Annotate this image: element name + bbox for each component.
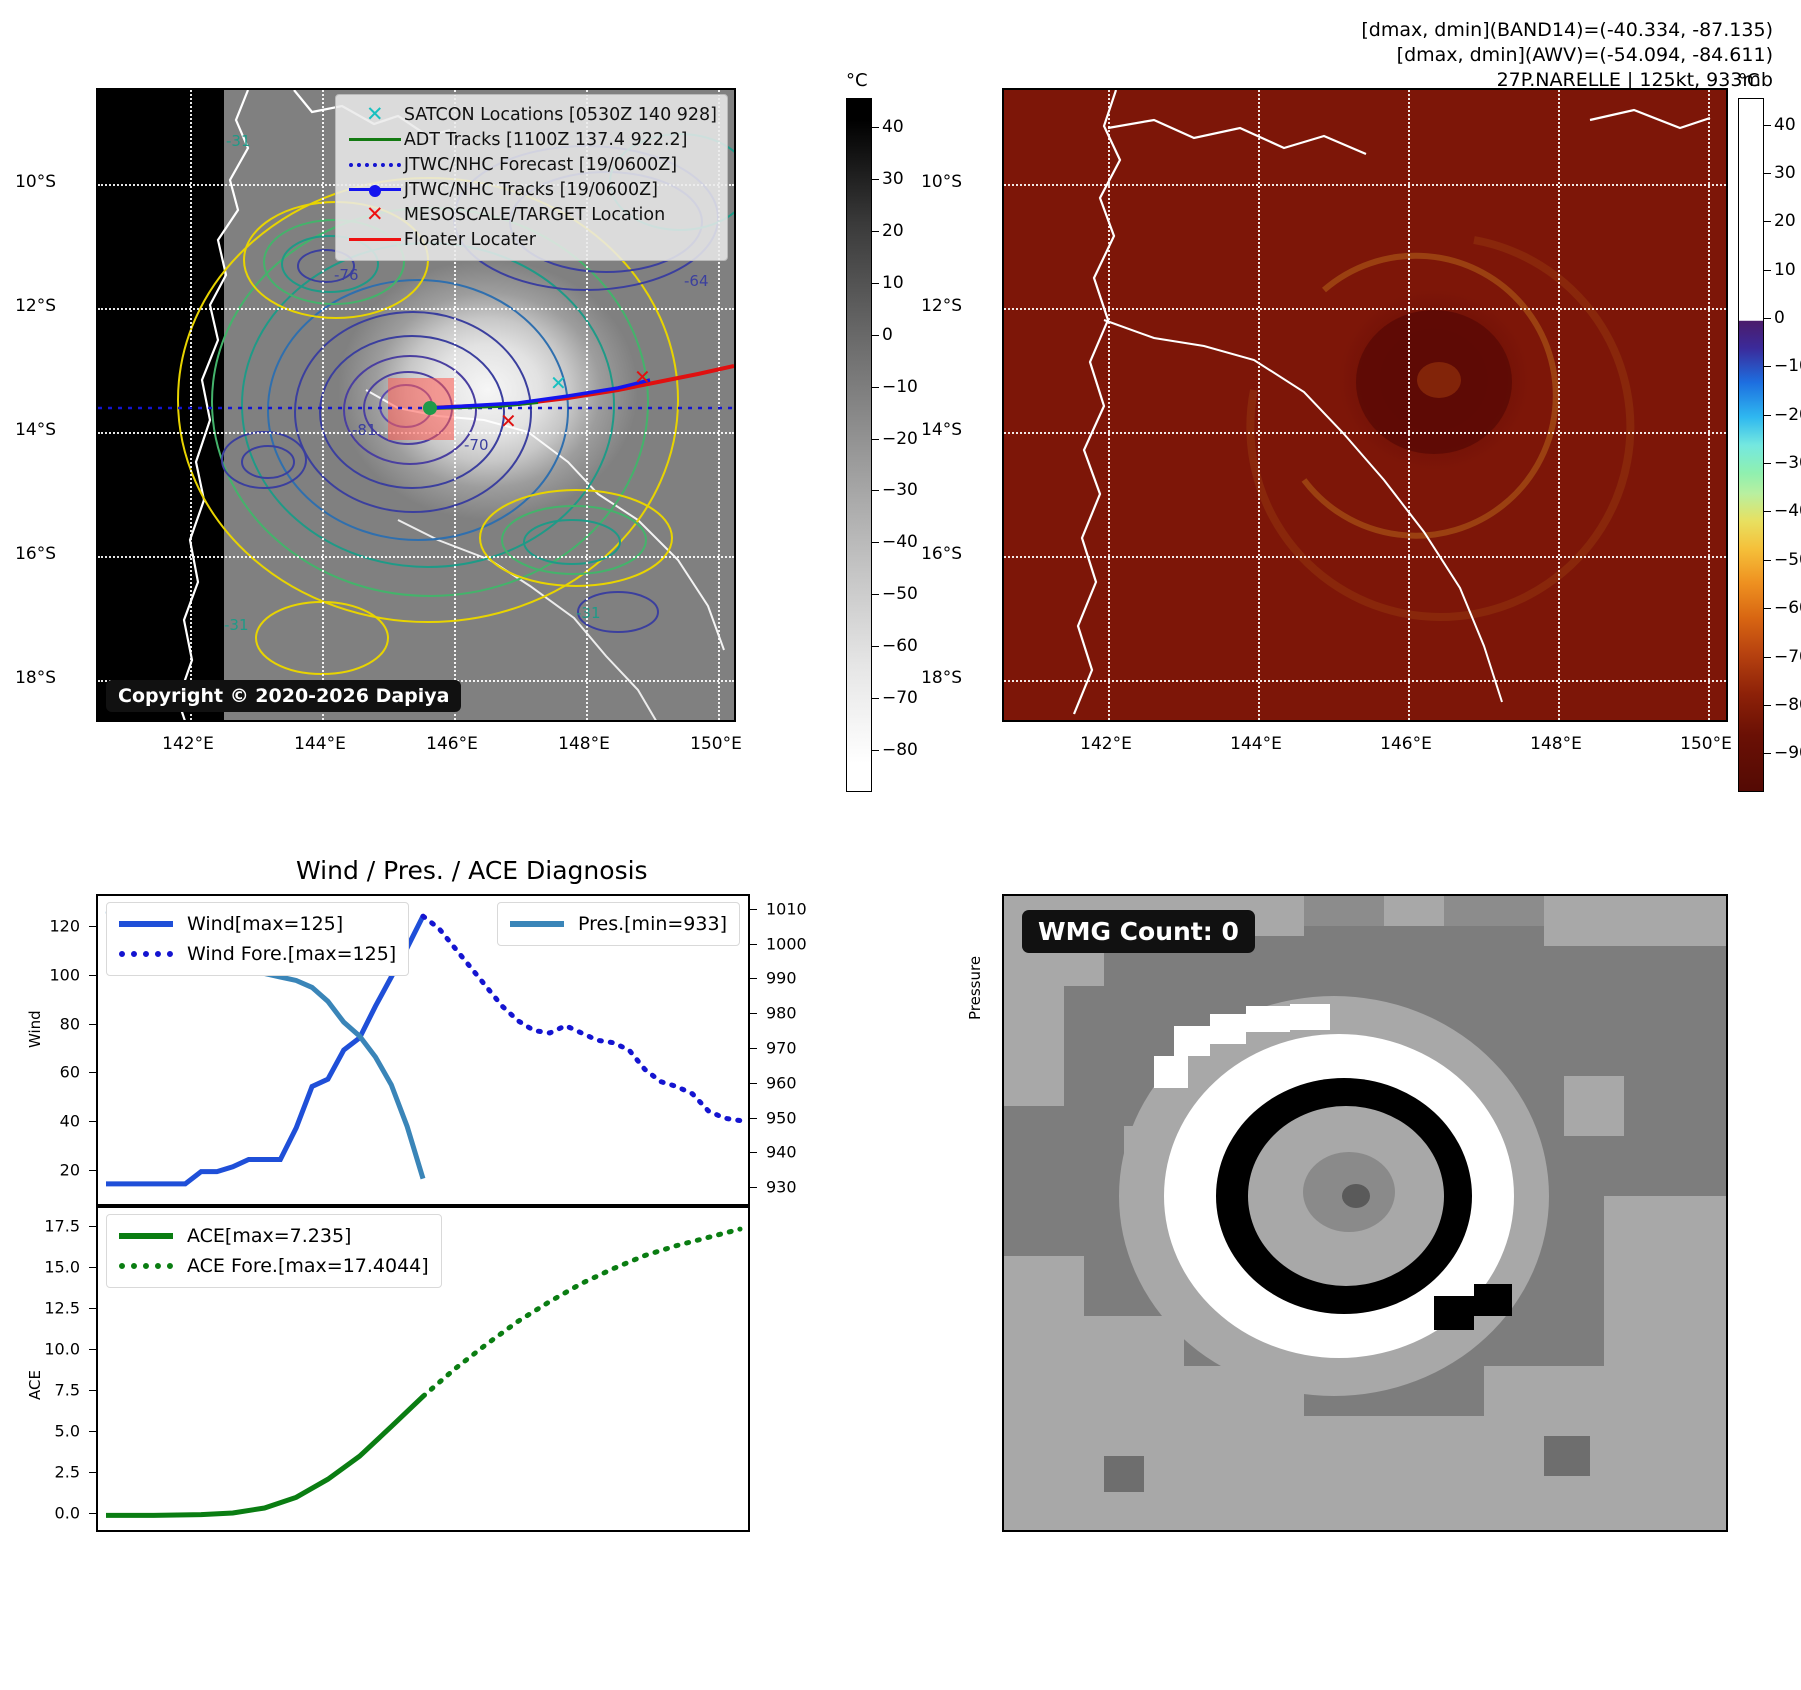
ace-legend[interactable]: ACE[max=7.235] ACE Fore.[max=17.4044]: [106, 1214, 442, 1288]
axis-tick-label: 940: [766, 1143, 836, 1162]
ir-lon-label-150e: 150°E: [690, 734, 742, 754]
awv-satellite-map[interactable]: [1002, 88, 1728, 722]
awv-gridline-lat-12s: [1004, 308, 1726, 310]
colorbar-tick-label: 40: [1774, 115, 1796, 135]
ir-colorbar-gradient: [846, 98, 872, 792]
colorbar-tick-mark: [1764, 415, 1771, 416]
axis-tick-label: 970: [766, 1039, 836, 1058]
colorbar-tick-mark: [872, 387, 879, 388]
axis-tick-mark: [89, 1349, 96, 1350]
colorbar-tick-label: −90: [1774, 743, 1801, 763]
axis-tick-mark: [750, 1152, 757, 1153]
colorbar-tick-label: −20: [1774, 405, 1801, 425]
wind-pressure-chart[interactable]: Wind[max=125] Wind Fore.[max=125] Pres.[…: [96, 894, 750, 1206]
axis-tick-label: 2.5: [16, 1463, 80, 1482]
legend-label: SATCON Locations [0530Z 140 928]: [404, 105, 717, 125]
ir-lat-label-12s: 12°S: [15, 296, 56, 316]
line-with-dot-icon: [346, 188, 404, 191]
axis-tick-label: 20: [16, 1160, 80, 1179]
legend-label: Floater Locater: [404, 230, 536, 250]
awv-gridline-lon-144e: [1258, 90, 1260, 720]
colorbar-tick-label: −40: [882, 532, 918, 552]
diagnosis-title: Wind / Pres. / ACE Diagnosis: [296, 856, 648, 885]
axis-tick-mark: [750, 1187, 757, 1188]
axis-tick-mark: [89, 1121, 96, 1122]
colorbar-tick-mark: [1764, 318, 1771, 319]
colorbar-tick-mark: [1764, 753, 1771, 754]
legend-label: MESOSCALE/TARGET Location: [404, 205, 665, 225]
colorbar-tick-mark: [872, 490, 879, 491]
axis-tick-label: 950: [766, 1108, 836, 1127]
solid-line-icon: [510, 921, 578, 927]
colorbar-tick-label: 30: [1774, 163, 1796, 183]
colorbar-tick-mark: [1764, 270, 1771, 271]
colorbar-tick-label: −10: [882, 377, 918, 397]
axis-tick-label: 1000: [766, 934, 836, 953]
wmg-count-badge: WMG Count: 0: [1022, 910, 1255, 953]
axis-tick-label: 1010: [766, 899, 836, 918]
axis-tick-label: 960: [766, 1073, 836, 1092]
solid-line-icon: [119, 1233, 187, 1239]
axis-tick-label: 980: [766, 1004, 836, 1023]
axis-tick-label: 0.0: [16, 1504, 80, 1523]
colorbar-tick-mark: [872, 335, 879, 336]
x-marker-icon: ✕: [346, 204, 404, 225]
colorbar-tick-label: −10: [1774, 356, 1801, 376]
axis-tick-label: 10.0: [16, 1339, 80, 1358]
colorbar-tick-mark: [872, 179, 879, 180]
axis-tick-mark: [750, 1013, 757, 1014]
axis-tick-mark: [89, 1226, 96, 1227]
colorbar-tick-label: −70: [1774, 647, 1801, 667]
legend-item-jtwc-forecast[interactable]: JTWC/NHC Forecast [19/0600Z]: [346, 152, 717, 177]
ir-lon-label-144e: 144°E: [294, 734, 346, 754]
wind-legend[interactable]: Wind[max=125] Wind Fore.[max=125]: [106, 902, 409, 976]
dotted-line-icon: [346, 163, 404, 167]
legend-label: ACE[max=7.235]: [187, 1225, 351, 1247]
colorbar-tick-label: 10: [882, 273, 904, 293]
awv-colorbar-unit: °C: [1738, 70, 1760, 91]
colorbar-tick-label: −50: [1774, 550, 1801, 570]
axis-tick-label: 15.0: [16, 1257, 80, 1276]
colorbar-tick-label: −50: [882, 584, 918, 604]
satcon-marker: ✕: [550, 371, 567, 395]
mesoscale-marker: ✕: [500, 409, 517, 433]
axis-tick-label: 100: [16, 966, 80, 985]
axis-tick-mark: [89, 1267, 96, 1268]
axis-tick-label: 5.0: [16, 1422, 80, 1441]
ir-lon-label-142e: 142°E: [162, 734, 214, 754]
awv-gridline-lon-146e: [1408, 90, 1410, 720]
colorbar-tick-mark: [1764, 560, 1771, 561]
colorbar-tick-mark: [872, 283, 879, 284]
axis-tick-mark: [89, 1024, 96, 1025]
ir-lat-label-16s: 16°S: [15, 544, 56, 564]
dotted-line-icon: [119, 951, 187, 957]
solid-line-icon: [346, 238, 404, 241]
legend-item-ace-forecast[interactable]: ACE Fore.[max=17.4044]: [119, 1251, 429, 1281]
colorbar-tick-mark: [872, 594, 879, 595]
legend-label: Pres.[min=933]: [578, 913, 727, 935]
awv-colorbar-gradient: [1738, 98, 1764, 792]
awv-lat-label-16s: 16°S: [921, 544, 962, 564]
colorbar-tick-label: 30: [882, 169, 904, 189]
axis-tick-label: 80: [16, 1014, 80, 1033]
awv-lat-label-18s: 18°S: [921, 668, 962, 688]
dotted-line-icon: [119, 1263, 187, 1269]
awv-lon-label-146e: 146°E: [1380, 734, 1432, 754]
ir-colorbar-unit: °C: [846, 70, 868, 91]
ir-lon-label-146e: 146°E: [426, 734, 478, 754]
axis-tick-mark: [89, 1472, 96, 1473]
axis-tick-mark: [750, 1083, 757, 1084]
ir-lat-label-14s: 14°S: [15, 420, 56, 440]
pressure-legend[interactable]: Pres.[min=933]: [497, 902, 740, 946]
colorbar-tick-label: −70: [882, 688, 918, 708]
colorbar-tick-label: −30: [882, 480, 918, 500]
solid-line-icon: [119, 921, 187, 927]
colorbar-tick-mark: [1764, 125, 1771, 126]
dmax-band14-text: [dmax, dmin](BAND14)=(-40.334, -87.135): [1361, 18, 1773, 43]
colorbar-tick-mark: [1764, 366, 1771, 367]
colorbar-tick-label: −40: [1774, 501, 1801, 521]
axis-tick-mark: [89, 926, 96, 927]
legend-item-wind[interactable]: Wind[max=125]: [119, 909, 396, 939]
axis-tick-label: 17.5: [16, 1216, 80, 1235]
axis-tick-mark: [89, 975, 96, 976]
colorbar-tick-mark: [1764, 511, 1771, 512]
awv-gridline-lon-142e: [1108, 90, 1110, 720]
ir-satellite-map[interactable]: -31 -31 -31 -76 -81 -70 -64 -54 ✕ ✕ ✕: [96, 88, 736, 722]
colorbar-tick-label: −60: [1774, 598, 1801, 618]
awv-lat-label-12s: 12°S: [921, 296, 962, 316]
colorbar-tick-mark: [872, 698, 879, 699]
header-stats: [dmax, dmin](BAND14)=(-40.334, -87.135) …: [1361, 18, 1773, 93]
axis-tick-mark: [89, 1390, 96, 1391]
wmg-grid-image: [1004, 896, 1726, 1530]
colorbar-tick-label: −30: [1774, 453, 1801, 473]
ir-lon-label-148e: 148°E: [558, 734, 610, 754]
colorbar-tick-mark: [872, 231, 879, 232]
colorbar-tick-mark: [872, 646, 879, 647]
axis-tick-mark: [750, 1048, 757, 1049]
legend-label: Wind Fore.[max=125]: [187, 943, 396, 965]
awv-gridline-lon-148e: [1558, 90, 1560, 720]
colorbar-tick-mark: [1764, 608, 1771, 609]
ace-chart[interactable]: ACE[max=7.235] ACE Fore.[max=17.4044]: [96, 1206, 750, 1532]
legend-label: JTWC/NHC Tracks [19/0600Z]: [404, 180, 658, 200]
axis-tick-label: 12.5: [16, 1298, 80, 1317]
awv-gridline-lat-10s: [1004, 184, 1726, 186]
colorbar-tick-mark: [872, 750, 879, 751]
legend-item-satcon[interactable]: ✕ SATCON Locations [0530Z 140 928]: [346, 102, 717, 127]
colorbar-tick-label: −80: [1774, 695, 1801, 715]
ir-lat-label-18s: 18°S: [15, 668, 56, 688]
legend-label: ACE Fore.[max=17.4044]: [187, 1255, 429, 1277]
colorbar-tick-mark: [872, 439, 879, 440]
colorbar-tick-label: 20: [1774, 211, 1796, 231]
legend-item-adt[interactable]: ADT Tracks [1100Z 137.4 922.2]: [346, 127, 717, 152]
axis-tick-mark: [750, 944, 757, 945]
axis-tick-mark: [89, 1431, 96, 1432]
colorbar-tick-mark: [1764, 705, 1771, 706]
axis-tick-mark: [750, 978, 757, 979]
legend-label: Wind[max=125]: [187, 913, 343, 935]
awv-gridline-lat-16s: [1004, 556, 1726, 558]
colorbar-tick-label: 10: [1774, 260, 1796, 280]
dmax-awv-text: [dmax, dmin](AWV)=(-54.094, -84.611): [1361, 43, 1773, 68]
awv-lon-label-150e: 150°E: [1680, 734, 1732, 754]
mesoscale-marker: ✕: [634, 365, 651, 389]
colorbar-tick-label: 20: [882, 221, 904, 241]
solid-line-icon: [346, 138, 404, 141]
axis-tick-mark: [89, 1513, 96, 1514]
axis-tick-mark: [750, 909, 757, 910]
axis-tick-label: 120: [16, 917, 80, 936]
pressure-axis-label: Pressure: [966, 956, 984, 1020]
colorbar-tick-mark: [1764, 463, 1771, 464]
axis-tick-label: 990: [766, 969, 836, 988]
ir-lat-label-10s: 10°S: [15, 172, 56, 192]
colorbar-tick-mark: [872, 127, 879, 128]
awv-lat-label-14s: 14°S: [921, 420, 962, 440]
colorbar-tick-label: −80: [882, 740, 918, 760]
colorbar-tick-mark: [1764, 657, 1771, 658]
axis-tick-label: 40: [16, 1112, 80, 1131]
colorbar-tick-label: 0: [882, 325, 893, 345]
ir-map-legend[interactable]: ✕ SATCON Locations [0530Z 140 928] ADT T…: [335, 94, 728, 261]
axis-tick-label: 60: [16, 1063, 80, 1082]
awv-lon-label-148e: 148°E: [1530, 734, 1582, 754]
awv-gridline-lat-18s: [1004, 680, 1726, 682]
awv-lon-label-144e: 144°E: [1230, 734, 1282, 754]
legend-item-floater[interactable]: Floater Locater: [346, 227, 717, 252]
x-marker-icon: ✕: [346, 104, 404, 125]
axis-tick-mark: [89, 1072, 96, 1073]
colorbar-tick-label: 0: [1774, 308, 1785, 328]
legend-item-jtwc-tracks[interactable]: JTWC/NHC Tracks [19/0600Z]: [346, 177, 717, 202]
colorbar-tick-mark: [1764, 173, 1771, 174]
colorbar-tick-label: −60: [882, 636, 918, 656]
axis-tick-mark: [750, 1118, 757, 1119]
awv-gridline-lon-150e: [1708, 90, 1710, 720]
axis-tick-mark: [89, 1170, 96, 1171]
colorbar-tick-mark: [872, 542, 879, 543]
wmg-analysis-panel[interactable]: WMG Count: 0: [1002, 894, 1728, 1532]
axis-tick-label: 930: [766, 1178, 836, 1197]
legend-item-pressure[interactable]: Pres.[min=933]: [510, 909, 727, 939]
copyright-notice: Copyright © 2020-2026 Dapiya: [106, 680, 461, 712]
colorbar-tick-label: 40: [882, 117, 904, 137]
legend-label: ADT Tracks [1100Z 137.4 922.2]: [404, 130, 688, 150]
awv-lon-label-142e: 142°E: [1080, 734, 1132, 754]
colorbar-tick-mark: [1764, 221, 1771, 222]
legend-item-mesoscale[interactable]: ✕ MESOSCALE/TARGET Location: [346, 202, 717, 227]
legend-item-wind-forecast[interactable]: Wind Fore.[max=125]: [119, 939, 396, 969]
colorbar-tick-label: −20: [882, 429, 918, 449]
awv-gridline-lat-14s: [1004, 432, 1726, 434]
legend-label: JTWC/NHC Forecast [19/0600Z]: [404, 155, 677, 175]
axis-tick-label: 7.5: [16, 1381, 80, 1400]
axis-tick-mark: [89, 1308, 96, 1309]
awv-lat-label-10s: 10°S: [921, 172, 962, 192]
legend-item-ace[interactable]: ACE[max=7.235]: [119, 1221, 429, 1251]
